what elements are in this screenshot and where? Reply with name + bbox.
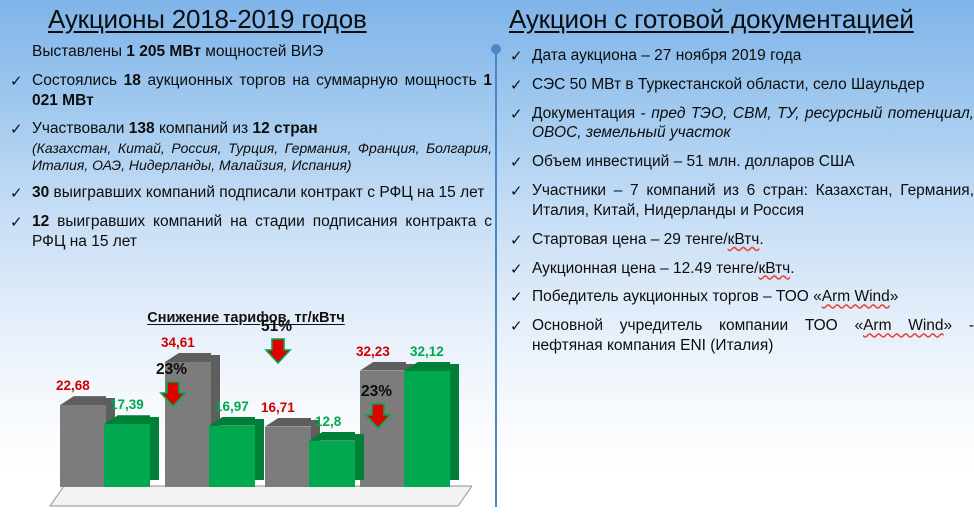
right-bullet-item-text: Объем инвестиций – 51 млн. долларов США xyxy=(532,152,974,172)
left-bullet-item-text: Участвовали 138 компаний из 12 стран xyxy=(32,119,492,139)
chart-bar-0-0 xyxy=(60,405,106,487)
bar-face-front xyxy=(404,371,450,487)
chart-bar-3-1 xyxy=(404,371,450,487)
right-bullet-item-text: СЭС 50 МВт в Туркестанской области, село… xyxy=(532,75,974,95)
chart-bar-2-1 xyxy=(309,441,355,487)
left-bullet-item-0: Выставлены 1 205 МВт мощностей ВИЭ xyxy=(0,42,492,62)
right-bullet-item-text: Аукционная цена – 12.49 тенге/кВтч. xyxy=(532,259,974,279)
right-bullet-item-text: Стартовая цена – 29 тенге/кВтч. xyxy=(532,230,974,250)
checkmark-icon: ✓ xyxy=(510,182,523,200)
chart-value-label-1-1: 16,97 xyxy=(215,399,249,414)
left-bullet-list: Выставлены 1 205 МВт мощностей ВИЭ✓Состо… xyxy=(0,42,500,261)
left-bullet-item-1: ✓Состоялись 18 аукционных торгов на сумм… xyxy=(0,71,492,111)
chart-value-label-3-0: 32,23 xyxy=(356,344,390,359)
chart-bar-0-1 xyxy=(104,424,150,487)
right-bullet-item-0: ✓Дата аукциона – 27 ноября 2019 года xyxy=(500,46,974,66)
right-bullet-item-4: ✓Участники – 7 компаний из 6 стран: Каза… xyxy=(500,181,974,221)
bar-face-side xyxy=(150,417,159,480)
checkmark-icon: ✓ xyxy=(10,72,23,90)
checkmark-icon: ✓ xyxy=(10,120,23,138)
right-bullet-list: ✓Дата аукциона – 27 ноября 2019 года✓СЭС… xyxy=(500,46,974,365)
right-bullet-item-5: ✓Стартовая цена – 29 тенге/кВтч. xyxy=(500,230,974,250)
bar-face-front xyxy=(309,441,355,487)
chart-down-arrow-0 xyxy=(158,379,188,409)
right-bullet-item-1: ✓СЭС 50 МВт в Туркестанской области, сел… xyxy=(500,75,974,95)
chart-annotation-pct-1: 51% xyxy=(261,318,292,336)
chart-value-label-0-0: 22,68 xyxy=(56,378,90,393)
checkmark-icon: ✓ xyxy=(510,317,523,335)
left-bullet-item-text: 12 выигравших компаний на стадии подписа… xyxy=(32,212,492,252)
left-heading: Аукционы 2018-2019 годов xyxy=(48,4,367,35)
bar-face-side xyxy=(355,434,364,480)
left-bullet-item-4: ✓12 выигравших компаний на стадии подпис… xyxy=(0,212,492,252)
right-bullet-item-text: Участники – 7 компаний из 6 стран: Казах… xyxy=(532,181,974,221)
slide: Аукционы 2018-2019 годов Выставлены 1 20… xyxy=(0,0,974,515)
chart-title: Снижение тарифов, тг/кВтч xyxy=(0,310,492,326)
chart-down-arrow-1 xyxy=(263,336,293,366)
left-bullet-item-3: ✓30 выигравших компаний подписали контра… xyxy=(0,183,492,203)
left-bullet-item-2: ✓Участвовали 138 компаний из 12 стран(Ка… xyxy=(0,119,492,174)
chart-bar-2-0 xyxy=(265,427,311,487)
chart-value-label-2-0: 16,71 xyxy=(261,400,295,415)
checkmark-icon: ✓ xyxy=(510,288,523,306)
chart-annotation-pct-2: 23% xyxy=(361,383,392,401)
chart-value-label-1-0: 34,61 xyxy=(161,335,195,350)
bar-face-side xyxy=(255,419,264,480)
chart-value-label-3-1: 32,12 xyxy=(410,344,444,359)
chart-plot-area: 22,6817,3923%34,6116,9751%16,7112,823%32… xyxy=(0,329,492,509)
chart-down-arrow-2 xyxy=(363,401,393,431)
bar-face-front xyxy=(209,426,255,487)
left-bullet-item-text: Состоялись 18 аукционных торгов на сумма… xyxy=(32,71,492,111)
bar-face-front xyxy=(104,424,150,487)
bar-face-top xyxy=(60,396,106,405)
right-bullet-item-6: ✓Аукционная цена – 12.49 тенге/кВтч. xyxy=(500,259,974,279)
right-bullet-item-text: Основной учредитель компании ТОО «Arm Wi… xyxy=(532,316,974,356)
chart-floor xyxy=(42,485,472,507)
checkmark-icon: ✓ xyxy=(10,184,23,202)
left-bullet-item-text: 30 выигравших компаний подписали контрак… xyxy=(32,183,492,203)
tariff-reduction-chart: Снижение тарифов, тг/кВтч 22,6817,3923%3… xyxy=(0,310,492,515)
bar-face-top xyxy=(360,362,406,371)
checkmark-icon: ✓ xyxy=(510,105,523,123)
right-bullet-item-text: Дата аукциона – 27 ноября 2019 года xyxy=(532,46,974,66)
chart-bar-1-1 xyxy=(209,426,255,487)
left-bullet-item-subtext: (Казахстан, Китай, Россия, Турция, Герма… xyxy=(32,140,492,174)
bar-face-front xyxy=(60,405,106,487)
right-bullet-item-text: Победитель аукционных торгов – ТОО «Arm … xyxy=(532,287,974,307)
right-heading: Аукцион с готовой документацией xyxy=(509,4,914,35)
chart-value-label-2-1: 12,8 xyxy=(315,414,341,429)
checkmark-icon: ✓ xyxy=(10,213,23,231)
chart-value-label-0-1: 17,39 xyxy=(110,397,144,412)
checkmark-icon: ✓ xyxy=(510,153,523,171)
checkmark-icon: ✓ xyxy=(510,231,523,249)
right-column: Аукцион с готовой документацией ✓Дата ау… xyxy=(500,0,974,515)
checkmark-icon: ✓ xyxy=(510,76,523,94)
right-bullet-item-8: ✓Основной учредитель компании ТОО «Arm W… xyxy=(500,316,974,356)
right-bullet-item-3: ✓Объем инвестиций – 51 млн. долларов США xyxy=(500,152,974,172)
bar-face-side xyxy=(450,364,459,480)
left-column: Аукционы 2018-2019 годов Выставлены 1 20… xyxy=(0,0,492,515)
column-divider xyxy=(495,52,497,507)
checkmark-icon: ✓ xyxy=(510,47,523,65)
right-bullet-item-2: ✓Документация - пред ТЭО, СВМ, ТУ, ресур… xyxy=(500,104,974,144)
bar-face-front xyxy=(265,427,311,487)
left-bullet-item-text: Выставлены 1 205 МВт мощностей ВИЭ xyxy=(32,42,492,62)
right-bullet-item-7: ✓Победитель аукционных торгов – ТОО «Arm… xyxy=(500,287,974,307)
chart-annotation-pct-0: 23% xyxy=(156,361,187,379)
bar-face-top xyxy=(265,418,311,427)
right-bullet-item-text: Документация - пред ТЭО, СВМ, ТУ, ресурс… xyxy=(532,104,974,144)
checkmark-icon: ✓ xyxy=(510,260,523,278)
